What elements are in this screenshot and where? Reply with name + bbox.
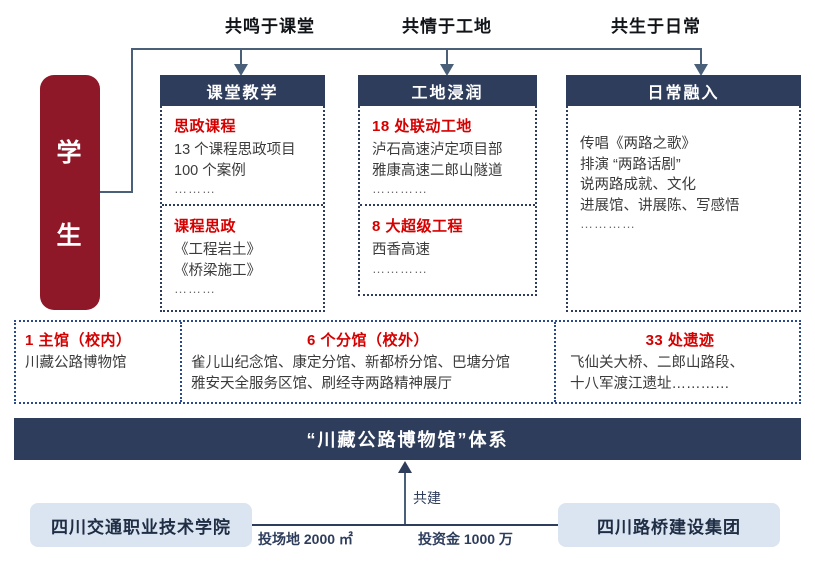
column-body-classroom: 思政课程 13 个课程思政项目 100 个案例 ……… 课程思政 《工程岩土》 …: [160, 106, 325, 312]
sub-block-richang: 传唱《两路之歌》 排演 “两路话剧” 说两路成就、文化 进展馆、讲展陈、写感悟 …: [568, 106, 799, 239]
connector-student-vertical: [131, 48, 133, 192]
museum-cell-line: 飞仙关大桥、二郎山路段、: [570, 353, 790, 374]
sub-block-line: 泸石高速泸定项目部: [372, 140, 523, 161]
phase-label-worksite: 共情于工地: [357, 12, 537, 37]
sub-block-line: 说两路成就、文化: [580, 175, 787, 196]
sub-block-sizheng-kecheng: 思政课程 13 个课程思政项目 100 个案例 ………: [162, 106, 323, 204]
column-header-classroom-label: 课堂教学: [206, 79, 278, 103]
sub-block-line: 西香高速: [372, 240, 523, 261]
sub-block-dots: …………: [372, 181, 523, 198]
system-bar: “川藏公路博物馆”体系: [14, 418, 801, 460]
sub-block-line: 传唱《两路之歌》: [580, 134, 787, 155]
sub-block-liandong-gongdi: 18 处联动工地 泸石高速泸定项目部 雅康高速二郎山隧道 …………: [360, 106, 535, 204]
sub-block-line: 进展馆、讲展陈、写感悟: [580, 196, 787, 217]
sub-block-line: 13 个课程思政项目: [174, 140, 311, 161]
phase-label-classroom: 共鸣于课堂: [180, 12, 360, 37]
museum-cell-title: 6 个分馆（校外）: [191, 329, 545, 350]
column-header-daily: 日常融入: [566, 75, 801, 106]
arrow-up-cobuild: [398, 461, 412, 473]
column-header-classroom: 课堂教学: [160, 75, 325, 106]
sub-block-line: 雅康高速二郎山隧道: [372, 161, 523, 182]
column-body-daily: 传唱《两路之歌》 排演 “两路话剧” 说两路成就、文化 进展馆、讲展陈、写感悟 …: [566, 106, 801, 312]
contribution-funds-text: 投资金 1000 万: [418, 531, 513, 547]
contribution-funds-label: 投资金 1000 万: [418, 529, 513, 549]
column-body-worksite: 18 处联动工地 泸石高速泸定项目部 雅康高速二郎山隧道 ………… 8 大超级工…: [358, 106, 537, 296]
connector-student-horizontal: [100, 191, 133, 193]
sub-block-title: 思政课程: [174, 115, 311, 136]
column-header-worksite: 工地浸润: [358, 75, 537, 106]
museum-cell-main: 1 主馆（校内） 川藏公路博物馆: [16, 322, 180, 402]
sub-block-line: 《工程岩土》: [174, 240, 311, 261]
phase-label-daily: 共生于日常: [566, 12, 746, 37]
sub-block-title: 8 大超级工程: [372, 215, 523, 236]
partner-school-label: 四川交通职业技术学院: [51, 513, 231, 538]
museum-cell-line: 雅安天全服务区馆、刷经寺两路精神展厅: [191, 374, 545, 395]
sub-block-line: 《桥梁施工》: [174, 261, 311, 282]
contribution-land-label: 投场地 2000 ㎡: [258, 529, 353, 549]
museum-cell-line: 川藏公路博物馆: [25, 353, 171, 374]
sub-block-line: 排演 “两路话剧”: [580, 155, 787, 176]
museum-row: 1 主馆（校内） 川藏公路博物馆 6 个分馆（校外） 雀儿山纪念馆、康定分馆、新…: [14, 320, 801, 404]
sub-block-dots: ………: [174, 281, 311, 298]
partner-box-school: 四川交通职业技术学院: [30, 503, 252, 547]
sub-block-title: 18 处联动工地: [372, 115, 523, 136]
diagram-canvas: 共鸣于课堂 共情于工地 共生于日常 学 生 课堂教学 思政课程 13 个课程思政…: [0, 0, 815, 571]
cobuild-label: 共建: [413, 488, 441, 508]
contribution-land-text: 投场地 2000 ㎡: [258, 531, 353, 547]
student-char-1: 学: [56, 133, 83, 169]
museum-cell-title: 1 主馆（校内）: [25, 329, 171, 350]
museum-cell-branches: 6 个分馆（校外） 雀儿山纪念馆、康定分馆、新都桥分馆、巴塘分馆 雅安天全服务区…: [180, 322, 554, 402]
sub-block-chaoji-gongcheng: 8 大超级工程 西香高速 …………: [360, 204, 535, 283]
museum-cell-line: 十八军渡江遗址…………: [570, 374, 790, 395]
connector-cobuild-vertical: [404, 472, 406, 525]
column-header-worksite-label: 工地浸润: [411, 79, 483, 103]
museum-cell-relics: 33 处遗迹 飞仙关大桥、二郎山路段、 十八军渡江遗址…………: [554, 322, 799, 402]
sub-block-dots: …………: [580, 216, 787, 233]
connector-partners-horizontal: [249, 524, 561, 526]
student-pill: 学 生: [40, 75, 100, 310]
partner-group-label: 四川路桥建设集团: [597, 513, 741, 538]
system-bar-label: “川藏公路博物馆”体系: [307, 426, 509, 452]
connector-bus: [131, 48, 701, 50]
sub-block-dots: ………: [174, 181, 311, 198]
partner-box-group: 四川路桥建设集团: [558, 503, 780, 547]
museum-cell-line: 雀儿山纪念馆、康定分馆、新都桥分馆、巴塘分馆: [191, 353, 545, 374]
sub-block-dots: …………: [372, 261, 523, 278]
student-char-2: 生: [56, 216, 83, 252]
sub-block-kecheng-sizheng: 课程思政 《工程岩土》 《桥梁施工》 ………: [162, 204, 323, 304]
sub-block-title: 课程思政: [174, 215, 311, 236]
column-header-daily-label: 日常融入: [647, 79, 719, 103]
sub-block-line: 100 个案例: [174, 161, 311, 182]
museum-cell-title: 33 处遗迹: [570, 329, 790, 350]
